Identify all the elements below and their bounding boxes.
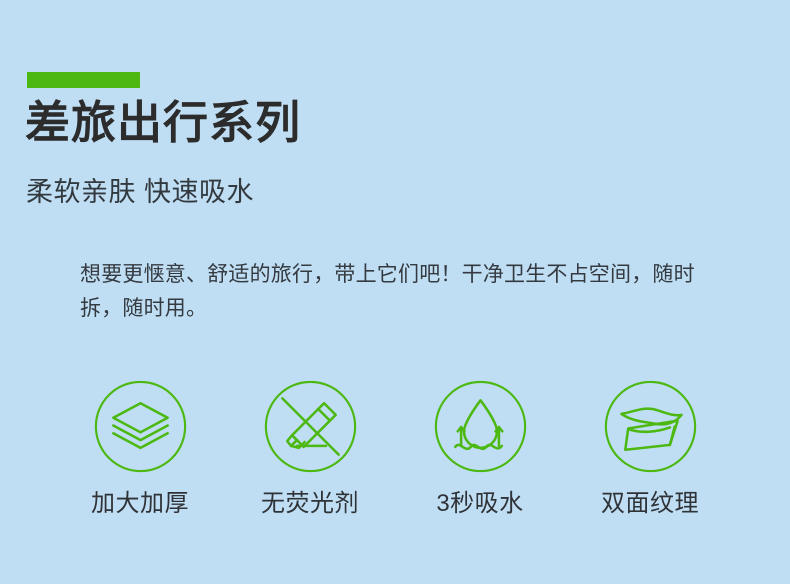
feature-label: 双面纹理 xyxy=(601,490,699,519)
page-subtitle: 柔软亲肤 快速吸水 xyxy=(26,176,254,208)
feature-item-texture: 双面纹理 xyxy=(570,378,730,519)
description-paragraph: 想要更惬意、舒适的旅行，带上它们吧！干净卫生不占空间，随时拆，随时用。 xyxy=(80,258,730,326)
page-title: 差旅出行系列 xyxy=(25,98,301,148)
accent-bar xyxy=(27,72,140,88)
double-sided-texture-sheets-icon xyxy=(602,378,699,475)
feature-label: 3秒吸水 xyxy=(436,490,523,519)
layer-stack-icon xyxy=(92,378,189,475)
water-absorption-droplet-icon xyxy=(432,378,529,475)
feature-label: 无荧光剂 xyxy=(261,490,359,519)
feature-item-no-fluorescent: 无荧光剂 xyxy=(230,378,390,519)
feature-list: 加大加厚 无荧光剂 xyxy=(60,378,730,519)
feature-item-thickness: 加大加厚 xyxy=(60,378,220,519)
promo-banner: 差旅出行系列 柔软亲肤 快速吸水 想要更惬意、舒适的旅行，带上它们吧！干净卫生不… xyxy=(0,0,790,584)
feature-item-absorption: 3秒吸水 xyxy=(400,378,560,519)
feature-label: 加大加厚 xyxy=(91,490,189,519)
no-fluorescent-marker-icon xyxy=(262,378,359,475)
